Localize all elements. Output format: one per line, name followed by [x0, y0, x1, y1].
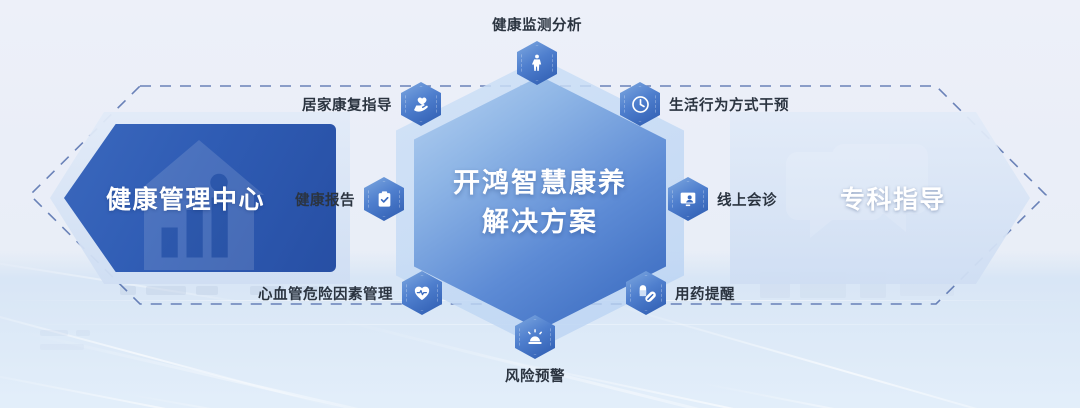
node-risk-alert[interactable]: 风险预警	[505, 315, 565, 386]
node-online-consultation[interactable]: 线上会诊	[668, 177, 777, 221]
node-label: 生活行为方式干预	[669, 94, 789, 115]
node-lifestyle-intervention[interactable]: 生活行为方式干预	[620, 82, 789, 126]
clock-icon	[620, 82, 660, 126]
center-title-line1: 开鸿智慧康养	[453, 164, 627, 203]
node-label: 居家康复指导	[302, 94, 392, 115]
node-cardiovascular-risk-management[interactable]: 心血管危险因素管理	[258, 271, 442, 315]
node-label: 线上会诊	[717, 189, 777, 210]
body-scan-icon	[517, 41, 557, 85]
node-label: 用药提醒	[675, 283, 735, 304]
hand-heart-icon	[401, 82, 441, 126]
panel-left-label: 健康管理中心	[106, 180, 265, 216]
panel-right-label: 专科指导	[840, 180, 946, 216]
heart-pulse-icon	[402, 271, 442, 315]
center-title-line2: 解决方案	[482, 203, 598, 242]
pill-capsule-icon	[626, 271, 666, 315]
alarm-siren-icon	[515, 315, 555, 359]
node-health-monitoring-analysis[interactable]: 健康监测分析	[492, 14, 582, 85]
node-label: 健康监测分析	[492, 14, 582, 35]
infographic-canvas: 健康管理中心 专科指导 开鸿智慧康养 解决方案 健康	[0, 0, 1080, 408]
node-label: 心血管危险因素管理	[258, 283, 393, 304]
monitor-user-icon	[668, 177, 708, 221]
node-label: 健康报告	[295, 189, 355, 210]
clipboard-check-icon	[364, 177, 404, 221]
node-health-report[interactable]: 健康报告	[295, 177, 404, 221]
node-medication-reminder[interactable]: 用药提醒	[626, 271, 735, 315]
node-label: 风险预警	[505, 365, 565, 386]
node-home-rehab-guidance[interactable]: 居家康复指导	[302, 82, 441, 126]
